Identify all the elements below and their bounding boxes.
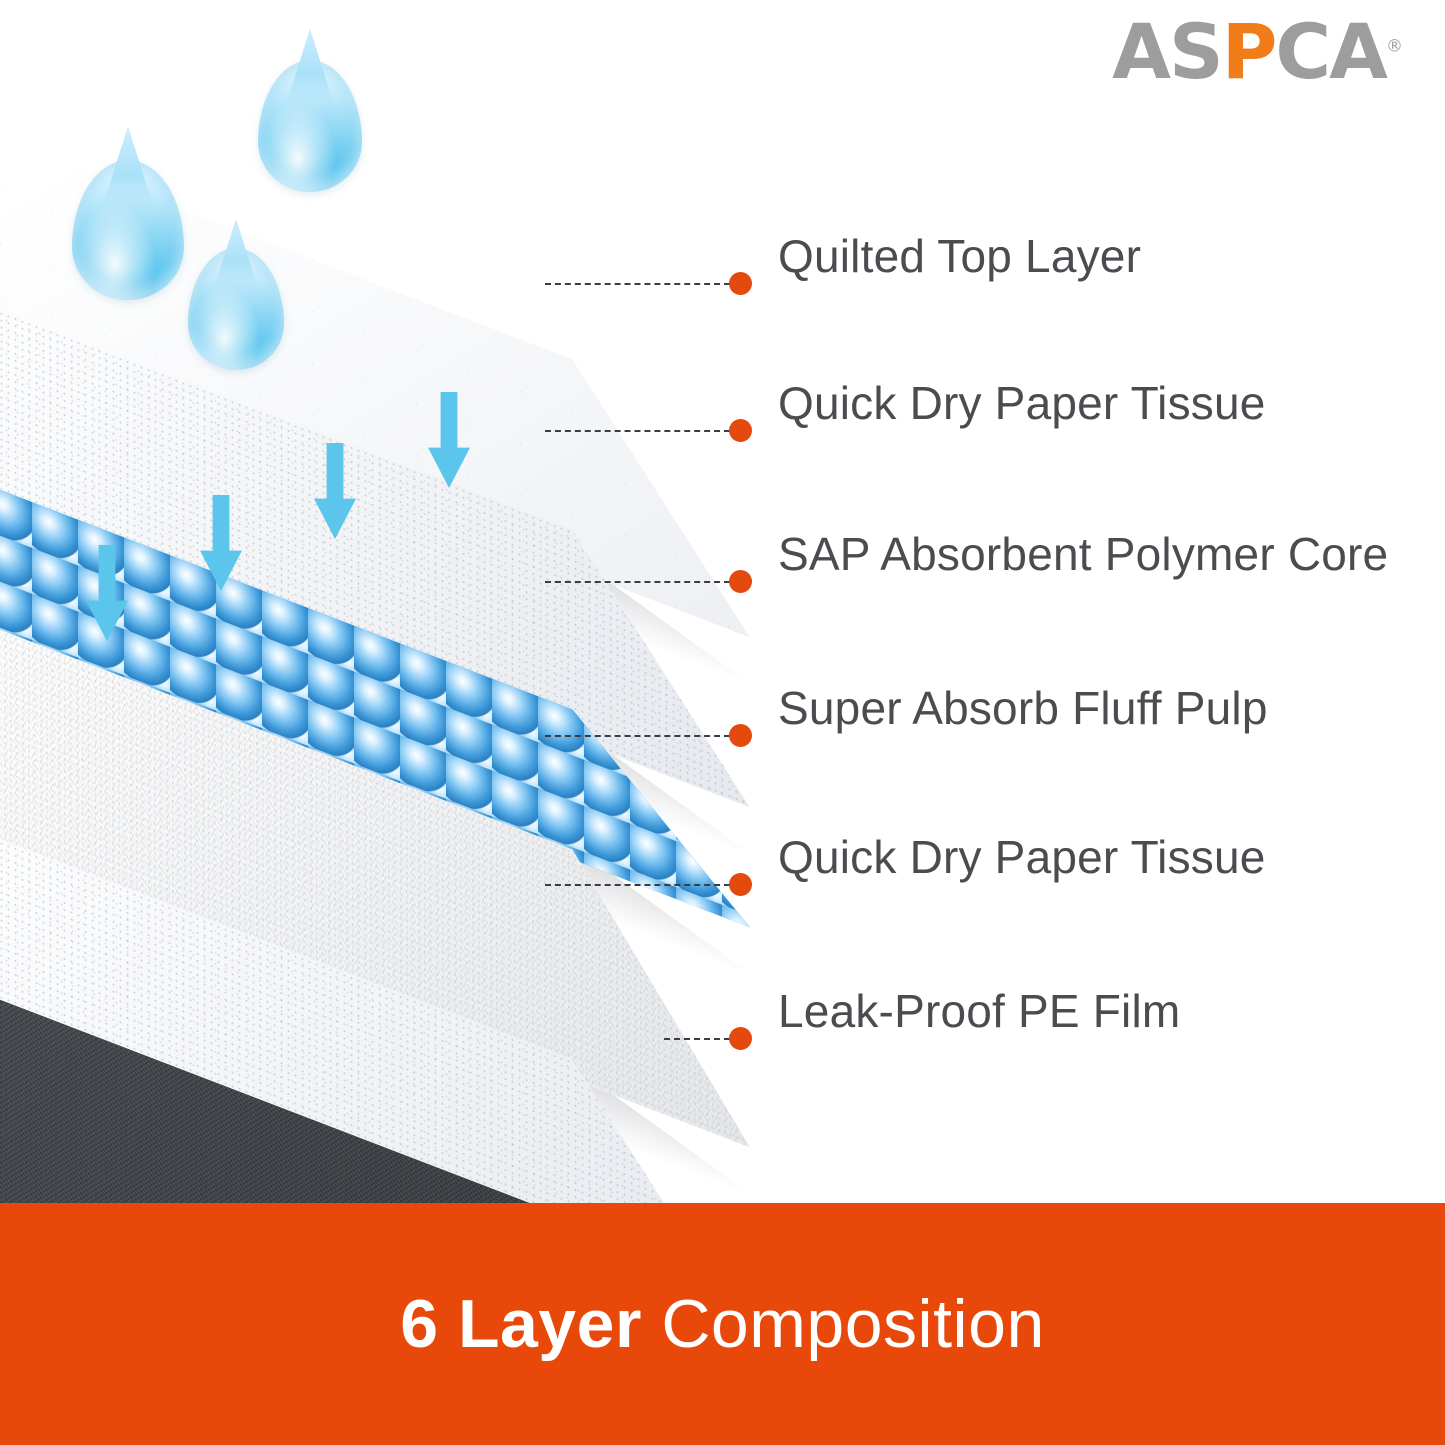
leader-line: [545, 430, 730, 432]
layer-stack-illustration: [0, 0, 760, 1210]
callout-label: SAP Absorbent Polymer Core: [778, 527, 1388, 581]
banner-title: 6 Layer Composition: [400, 1285, 1045, 1363]
absorption-arrow-2: [200, 495, 242, 591]
leader-line: [545, 283, 730, 285]
logo-text-as: AS: [1112, 7, 1222, 96]
registered-trademark-icon: ®: [1386, 37, 1403, 57]
callout-dot: [729, 873, 752, 896]
arrow-down-icon: [428, 392, 470, 488]
callout-dot: [729, 419, 752, 442]
callout-dot: [729, 1027, 752, 1050]
leader-line: [664, 1038, 730, 1040]
arrow-down-icon: [314, 443, 356, 539]
arrow-down-icon: [200, 495, 242, 591]
droplet-body-icon: [188, 248, 284, 370]
callout-label: Quick Dry Paper Tissue: [778, 830, 1266, 884]
droplet-body-icon: [72, 160, 184, 300]
infographic-canvas: ASPCA®: [0, 0, 1445, 1445]
water-droplet-3: [188, 248, 284, 370]
banner-title-bold: 6 Layer: [400, 1286, 642, 1362]
callout-dot: [729, 724, 752, 747]
callout-dot: [729, 570, 752, 593]
absorption-arrow-1: [86, 545, 128, 641]
absorption-arrow-4: [428, 392, 470, 488]
leader-line: [545, 735, 730, 737]
water-droplet-2: [258, 60, 362, 192]
bottom-banner: 6 Layer Composition: [0, 1203, 1445, 1445]
callout-label: Super Absorb Fluff Pulp: [778, 681, 1268, 735]
banner-title-regular: Composition: [661, 1286, 1044, 1362]
callout-label: Quick Dry Paper Tissue: [778, 376, 1266, 430]
arrow-down-icon: [86, 545, 128, 641]
logo-text-ca: CA: [1275, 7, 1386, 96]
callout-label: Leak-Proof PE Film: [778, 984, 1180, 1038]
logo-text-p: P: [1222, 7, 1276, 96]
callout-dot: [729, 272, 752, 295]
water-droplet-1: [72, 160, 184, 300]
leader-line: [545, 884, 730, 886]
callout-label: Quilted Top Layer: [778, 229, 1141, 283]
absorption-arrow-3: [314, 443, 356, 539]
leader-line: [545, 581, 730, 583]
aspca-logo: ASPCA®: [1112, 14, 1403, 90]
droplet-body-icon: [258, 60, 362, 192]
